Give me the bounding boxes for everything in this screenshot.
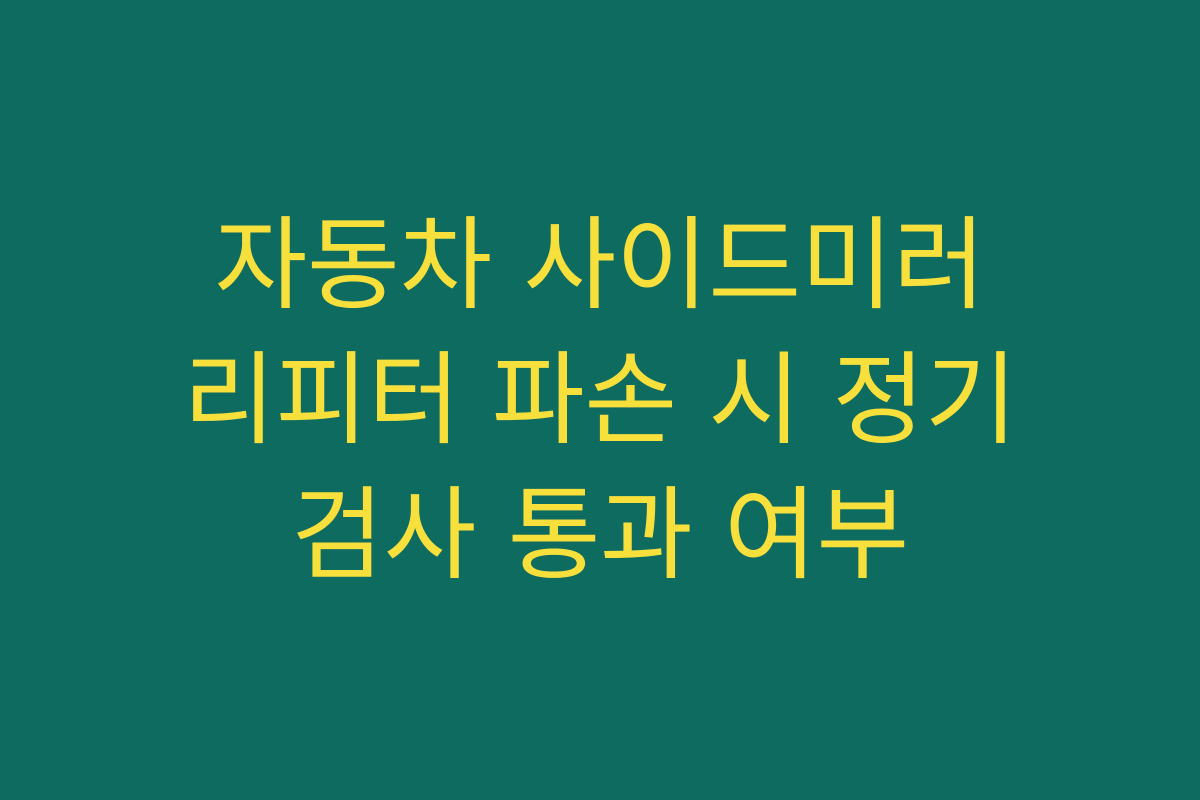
banner-canvas: 자동차 사이드미러 리피터 파손 시 정기 검사 통과 여부 (0, 0, 1200, 800)
banner-headline: 자동차 사이드미러 리피터 파손 시 정기 검사 통과 여부 (105, 198, 1095, 603)
headline-block: 자동차 사이드미러 리피터 파손 시 정기 검사 통과 여부 (105, 198, 1095, 603)
